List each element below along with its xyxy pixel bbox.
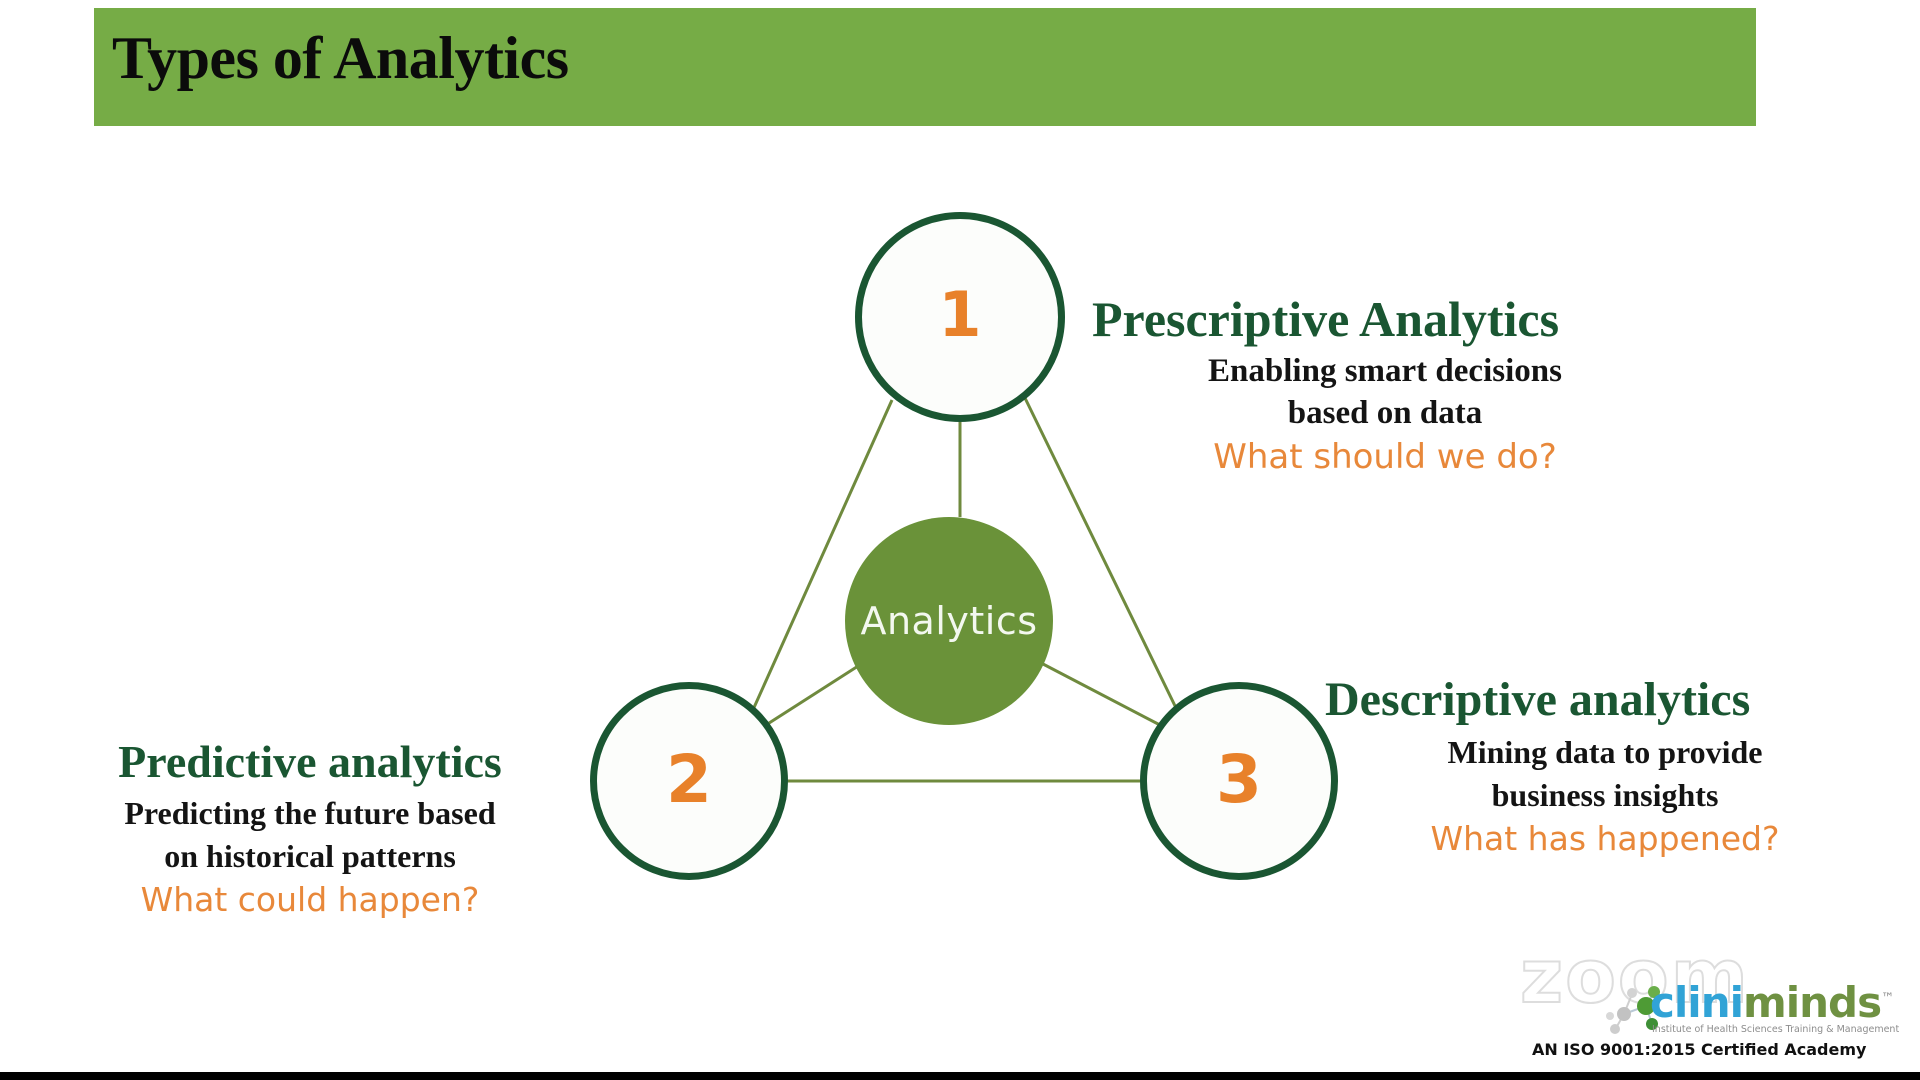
iso-certification-line: AN ISO 9001:2015 Certified Academy <box>1532 1040 1866 1059</box>
trademark-symbol: ™ <box>1881 991 1893 1006</box>
brand-part-minds: minds <box>1743 978 1881 1027</box>
node-desc-3-line-1: Mining data to provide <box>1325 735 1885 770</box>
center-analytics-label: Analytics <box>860 599 1037 643</box>
node-title-3: Descriptive analytics <box>1325 672 1885 727</box>
brand-part-clini: clini <box>1650 978 1743 1027</box>
bottom-black-bar <box>0 1072 1920 1080</box>
node-circle-2[interactable]: 2 <box>590 682 788 880</box>
node-number-3: 3 <box>1216 747 1262 813</box>
node-title-1: Prescriptive Analytics <box>1092 290 1685 348</box>
node-text-block-2: Predictive analytics Predicting the futu… <box>55 735 565 919</box>
node-text-block-1: Prescriptive Analytics Enabling smart de… <box>1085 290 1685 477</box>
center-analytics-circle[interactable]: Analytics <box>845 517 1053 725</box>
node-title-2: Predictive analytics <box>55 735 565 788</box>
node-number-2: 2 <box>666 747 712 813</box>
node-question-2: What could happen? <box>55 880 565 919</box>
node-desc-3-line-2: business insights <box>1325 778 1885 813</box>
node-question-1: What should we do? <box>1085 437 1685 477</box>
footer-logo-area: zoom cliniminds™ Institute of Health Sci… <box>1510 934 1910 1064</box>
node-question-3: What has happened? <box>1325 819 1885 858</box>
node-desc-2-line-1: Predicting the future based <box>55 796 565 831</box>
analytics-triangle-diagram: 1 2 3 Analytics Prescriptive Analytics E… <box>0 0 1920 1080</box>
node-desc-2-line-2: on historical patterns <box>55 839 565 874</box>
cliniminds-tagline: Institute of Health Sciences Training & … <box>1652 1024 1899 1035</box>
node-number-1: 1 <box>938 284 981 346</box>
cliniminds-wordmark: cliniminds™ <box>1650 978 1893 1027</box>
node-circle-3[interactable]: 3 <box>1140 682 1338 880</box>
slide-canvas: Types of Analytics 1 2 3 Ana <box>0 0 1920 1080</box>
node-circle-1[interactable]: 1 <box>855 212 1065 422</box>
node-text-block-3: Descriptive analytics Mining data to pro… <box>1325 672 1885 858</box>
node-desc-1-line-2: based on data <box>1085 396 1685 432</box>
node-desc-1-line-1: Enabling smart decisions <box>1085 354 1685 390</box>
